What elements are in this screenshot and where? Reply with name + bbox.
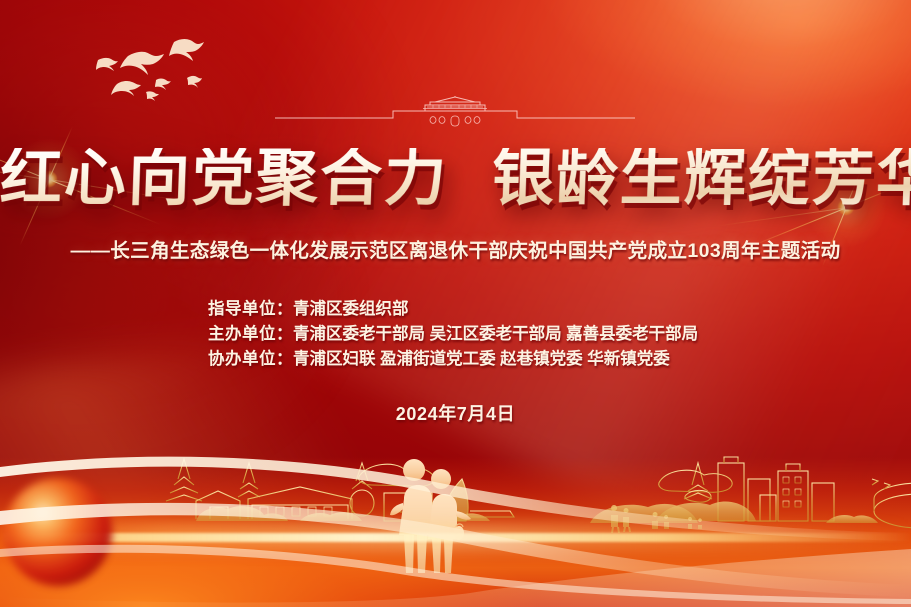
poster-title: 红心向党聚合力银龄生辉绽芳华 bbox=[0, 148, 911, 210]
organizer-label: 主办单位： bbox=[208, 325, 293, 343]
title-block: 红心向党聚合力银龄生辉绽芳华 bbox=[0, 148, 911, 210]
poster-canvas: 红心向党聚合力银龄生辉绽芳华 ——长三角生态绿色一体化发展示范区离退休干部庆祝中… bbox=[0, 0, 911, 607]
subtitle-block: ——长三角生态绿色一体化发展示范区离退休干部庆祝中国共产党成立103周年主题活动 bbox=[0, 234, 911, 263]
title-part-1: 红心向党聚合力 bbox=[0, 145, 449, 213]
poster-subtitle: ——长三角生态绿色一体化发展示范区离退休干部庆祝中国共产党成立103周年主题活动 bbox=[70, 234, 840, 263]
doves-icon bbox=[70, 34, 230, 114]
organizer-row: 指导单位：青浦区委组织部 bbox=[208, 297, 698, 322]
organizer-value: 青浦区妇联 盈浦街道党工委 赵巷镇党委 华新镇党委 bbox=[293, 350, 670, 368]
organizer-label: 指导单位： bbox=[208, 300, 293, 318]
title-part-2: 银龄生辉绽芳华 bbox=[491, 145, 911, 213]
organizers-block: 指导单位：青浦区委组织部 主办单位：青浦区委老干部局 吴江区委老干部局 嘉善县委… bbox=[208, 297, 698, 372]
organizer-row: 协办单位：青浦区妇联 盈浦街道党工委 赵巷镇党委 华新镇党委 bbox=[208, 347, 698, 372]
ribbon-curves bbox=[0, 407, 911, 607]
organizer-value: 青浦区委老干部局 吴江区委老干部局 嘉善县委老干部局 bbox=[293, 325, 698, 343]
tiananmen-gate-icon bbox=[275, 96, 635, 138]
organizer-row: 主办单位：青浦区委老干部局 吴江区委老干部局 嘉善县委老干部局 bbox=[208, 322, 698, 347]
organizer-value: 青浦区委组织部 bbox=[293, 300, 409, 318]
organizer-label: 协办单位： bbox=[208, 350, 293, 368]
